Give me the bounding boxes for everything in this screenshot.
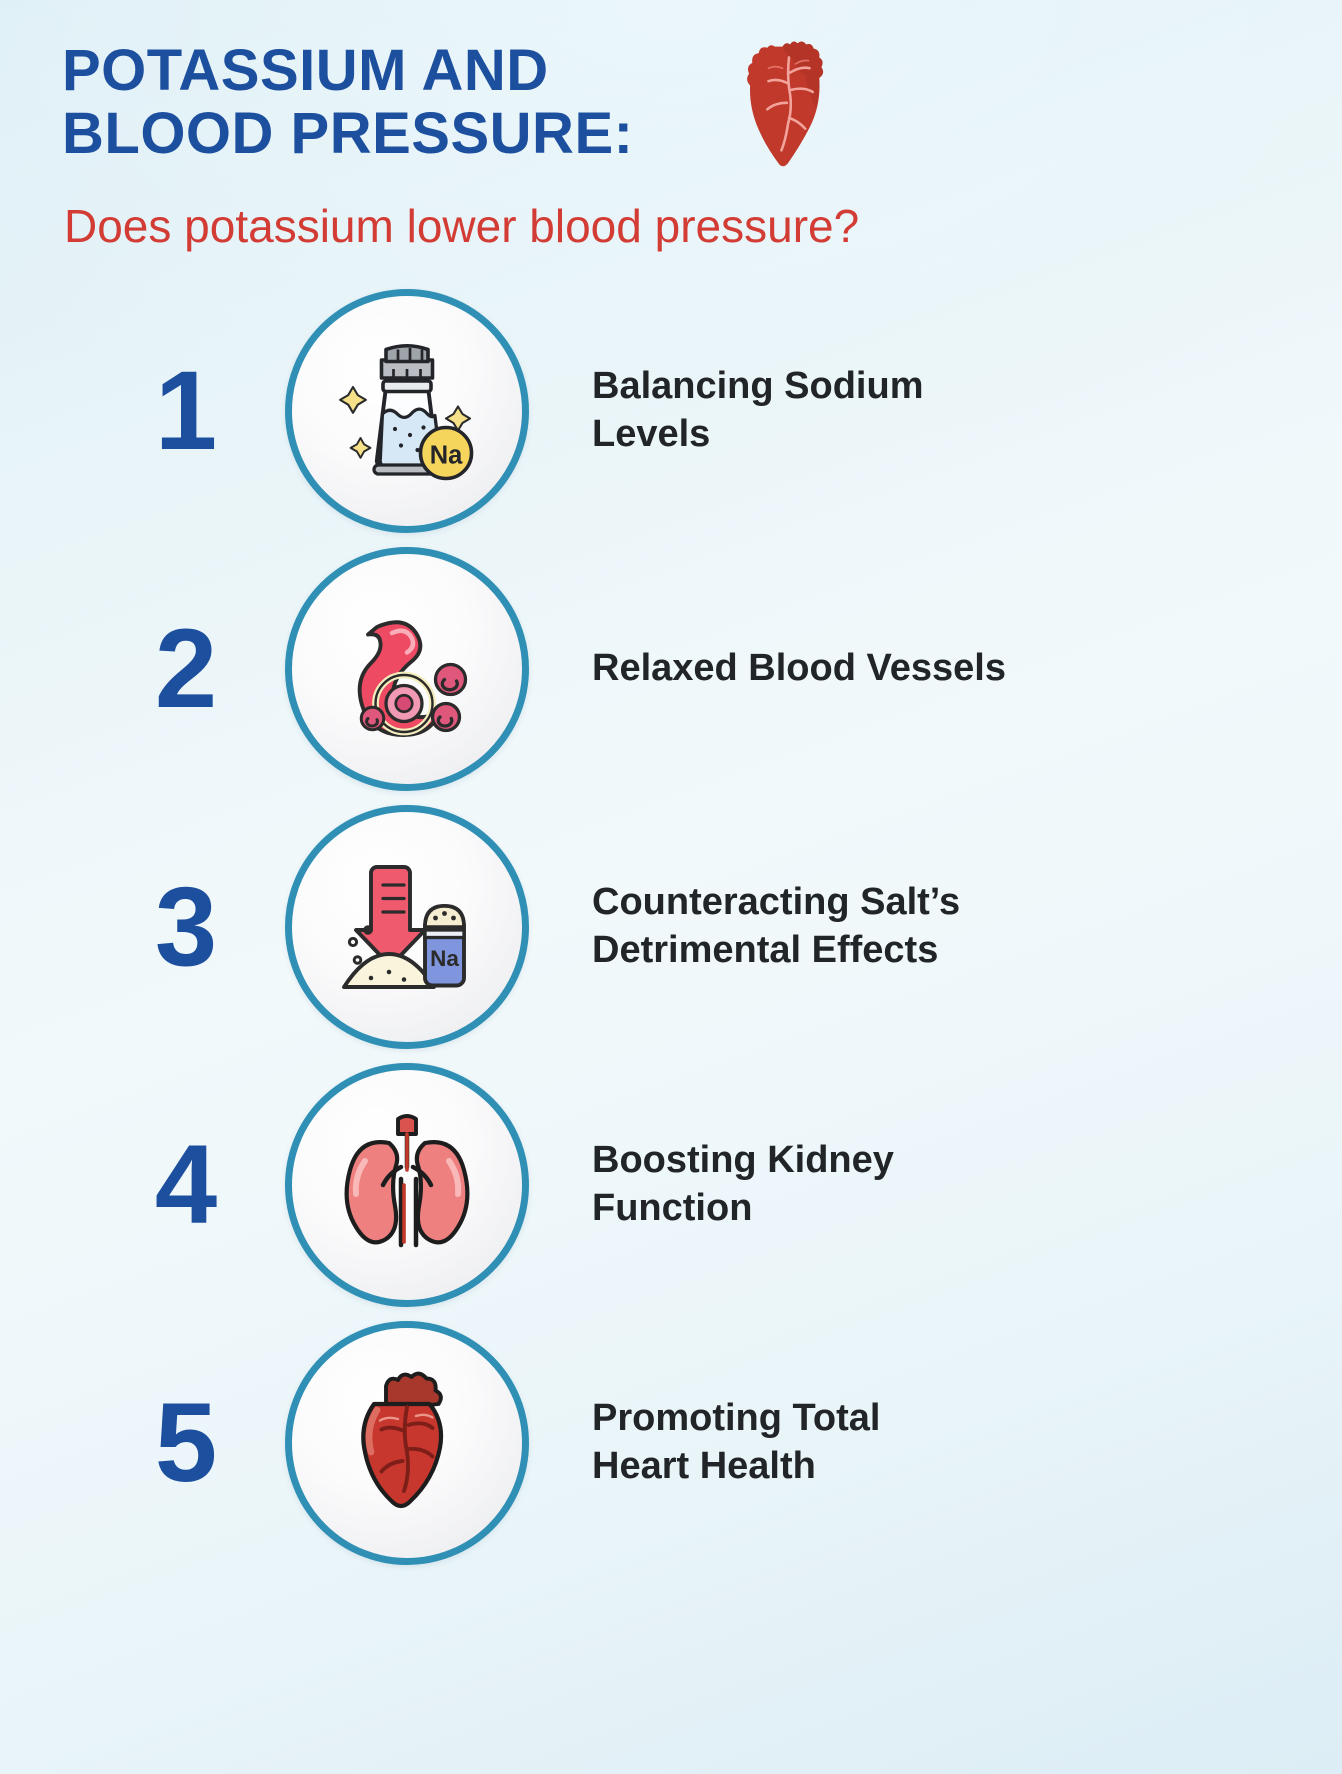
kidneys-icon xyxy=(332,1110,482,1260)
page-subtitle: Does potassium lower blood pressure? xyxy=(64,200,859,253)
title-line-1: POTASSIUM AND xyxy=(62,40,782,103)
list-item[interactable]: 3 xyxy=(0,798,1342,1056)
anatomical-heart-icon xyxy=(735,38,843,168)
item-label: Boosting Kidney Function xyxy=(592,1137,1152,1233)
item-number: 3 xyxy=(130,871,240,983)
salt-reduction-arrow-icon: Na xyxy=(332,852,482,1002)
item-label-line: Counteracting Salt’s xyxy=(592,879,1152,927)
item-label-line: Detrimental Effects xyxy=(592,927,1152,975)
infographic-page: POTASSIUM AND BLOOD PRESSURE: xyxy=(0,0,1342,1774)
item-label-line: Balancing Sodium xyxy=(592,363,1152,411)
list-item[interactable]: 2 xyxy=(0,540,1342,798)
salt-shaker-sodium-icon: Na xyxy=(332,336,482,486)
heart-organ-icon xyxy=(332,1368,482,1518)
item-label: Balancing Sodium Levels xyxy=(592,363,1152,459)
item-label-line: Function xyxy=(592,1185,1152,1233)
item-label-line: Levels xyxy=(592,411,1152,459)
blood-vessel-cells-icon xyxy=(332,594,482,744)
list-item[interactable]: 1 xyxy=(0,282,1342,540)
item-label: Relaxed Blood Vessels xyxy=(592,645,1152,693)
item-label-line: Promoting Total xyxy=(592,1395,1152,1443)
icon-badge: Na xyxy=(285,289,529,533)
title-line-2: BLOOD PRESSURE: xyxy=(62,103,782,166)
item-number: 2 xyxy=(130,613,240,725)
list-item[interactable]: 4 xyxy=(0,1056,1342,1314)
icon-badge xyxy=(285,547,529,791)
benefits-list: 1 xyxy=(0,282,1342,1572)
item-number: 1 xyxy=(130,355,240,467)
icon-badge: Na xyxy=(285,805,529,1049)
icon-badge xyxy=(285,1063,529,1307)
icon-badge xyxy=(285,1321,529,1565)
item-number: 5 xyxy=(130,1387,240,1499)
item-label-line: Boosting Kidney xyxy=(592,1137,1152,1185)
list-item[interactable]: 5 xyxy=(0,1314,1342,1572)
item-label: Promoting Total Heart Health xyxy=(592,1395,1152,1491)
item-number: 4 xyxy=(130,1129,240,1241)
item-label-line: Heart Health xyxy=(592,1443,1152,1491)
na-shaker-text: Na xyxy=(430,946,459,971)
item-label-line: Relaxed Blood Vessels xyxy=(592,645,1152,693)
page-title: POTASSIUM AND BLOOD PRESSURE: xyxy=(62,40,782,165)
na-badge-text: Na xyxy=(430,442,463,470)
item-label: Counteracting Salt’s Detrimental Effects xyxy=(592,879,1152,975)
